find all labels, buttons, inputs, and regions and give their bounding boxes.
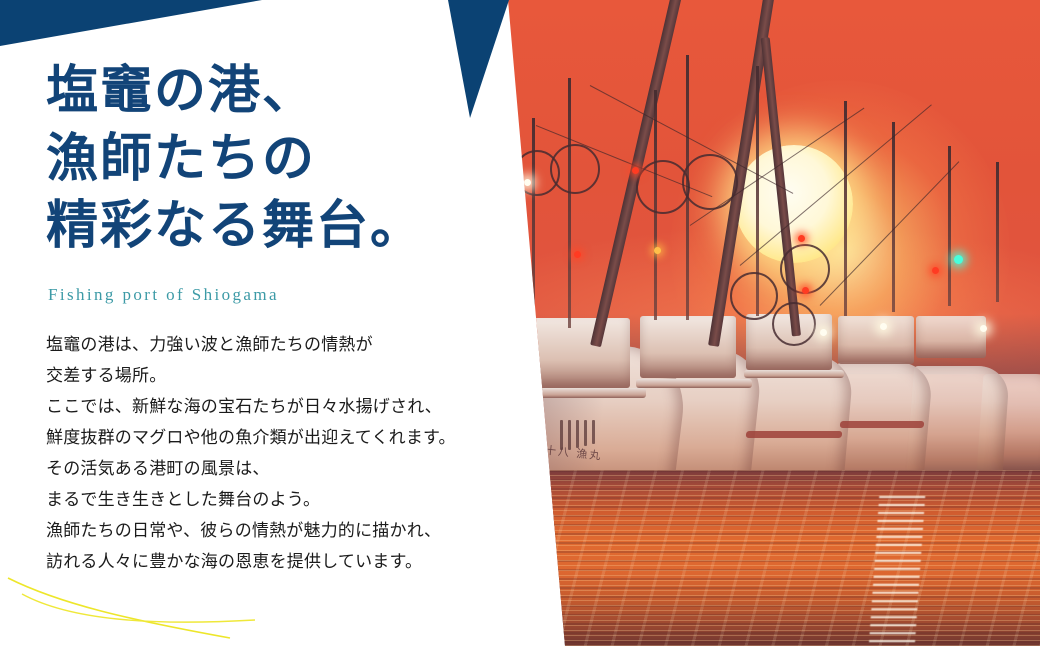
navigation-light-white (880, 323, 887, 330)
navigation-light-red (632, 167, 639, 174)
rigging-ring (550, 144, 600, 194)
hull-red-stripe-1 (746, 431, 843, 438)
text-column: 塩竈の港、 漁師たちの 精彩なる舞台。 Fishing port of Shio… (0, 0, 540, 646)
rigging-ring (682, 154, 738, 210)
boat-mast (568, 78, 571, 328)
navigation-light-red (932, 267, 939, 274)
boat-mast (892, 122, 895, 312)
rigging-ring (772, 302, 816, 346)
navigation-light-red (574, 251, 581, 258)
navigation-light-white (820, 329, 827, 336)
navigation-light-white (980, 325, 987, 332)
boat-deck-rail-3 (744, 370, 844, 378)
hull-vent (592, 420, 595, 444)
boat-mast (844, 101, 847, 316)
hero-banner: 第十八 漁丸 塩竈の港、 漁師たちの 精彩なる舞台。 Fishing port … (0, 0, 1040, 646)
boat-mast (996, 162, 999, 302)
page-title: 塩竈の港、 漁師たちの 精彩なる舞台。 (46, 58, 424, 261)
body-copy: 塩竈の港は、力強い波と漁師たちの情熱が 交差する場所。 ここでは、新鮮な海の宝石… (46, 329, 536, 577)
navigation-light-red (798, 235, 805, 242)
rigging-ring (730, 272, 778, 320)
navigation-light-green (954, 255, 963, 264)
boat-deck-rail-2 (636, 379, 752, 388)
boat-superstructure-4 (838, 316, 914, 364)
hull-red-stripe-2 (840, 421, 925, 428)
navigation-light-amber (654, 247, 661, 254)
hull-vent (576, 420, 579, 448)
boat-superstructure-5 (916, 316, 986, 358)
hull-vent (584, 420, 587, 446)
subtitle-romaji: Fishing port of Shiogama (48, 285, 279, 305)
navigation-light-red (802, 287, 809, 294)
